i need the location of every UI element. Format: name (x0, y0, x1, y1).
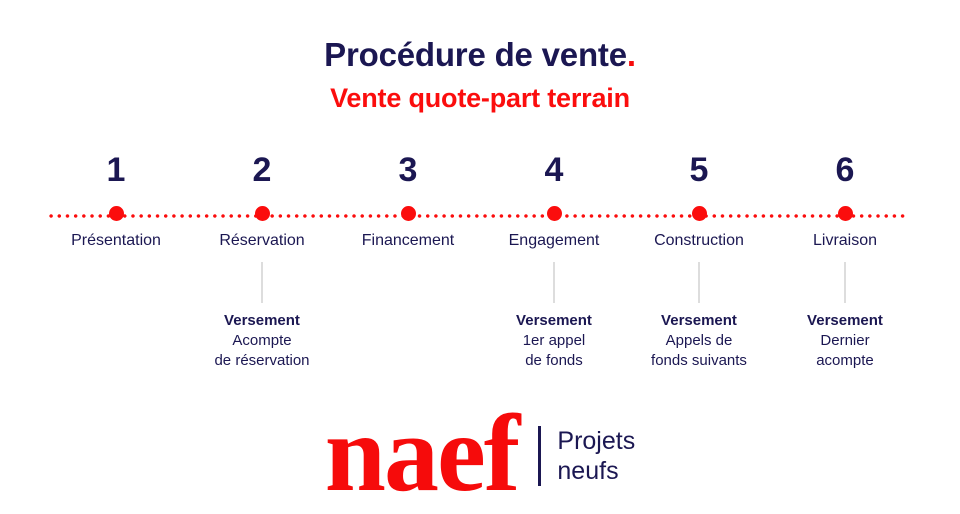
step-label: Financement (333, 231, 483, 251)
note-line: Appels de (619, 331, 779, 351)
naef-wordmark: naef (325, 410, 519, 496)
logo-divider (538, 426, 541, 486)
note-connector-line (844, 262, 846, 303)
page-title: Procédure de vente. (0, 34, 960, 76)
step-number: 5 (624, 150, 774, 196)
step-number: 2 (187, 150, 337, 196)
sales-procedure-infographic: Procédure de vente. Vente quote-part ter… (0, 0, 960, 500)
note-line: fonds suivants (619, 351, 779, 371)
payment-note-step-4: Versement 1er appel de fonds (474, 262, 634, 371)
page-subtitle: Vente quote-part terrain (0, 80, 960, 116)
logo-inner: naef Projets neufs (325, 414, 635, 500)
step-label: Réservation (187, 231, 337, 251)
step-number: 3 (333, 150, 483, 196)
step-number: 4 (479, 150, 629, 196)
logo-tagline-line-1: Projets (557, 426, 635, 456)
note-title: Versement (474, 311, 634, 331)
timeline-step-4[interactable]: 4 Engagement (479, 150, 629, 251)
payment-note-step-6: Versement Dernier acompte (765, 262, 925, 371)
note-connector-line (261, 262, 263, 303)
step-dot-icon (109, 206, 124, 221)
logo-tagline: Projets neufs (557, 426, 635, 486)
payment-notes: Versement Acompte de réservation Verseme… (0, 262, 960, 392)
note-connector-line (553, 262, 555, 303)
note-line: Dernier (765, 331, 925, 351)
step-dot-icon (255, 206, 270, 221)
step-dot-icon (838, 206, 853, 221)
naef-logo: naef Projets neufs (0, 414, 960, 500)
timeline-step-5[interactable]: 5 Construction (624, 150, 774, 251)
timeline-step-2[interactable]: 2 Réservation (187, 150, 337, 251)
timeline-step-6[interactable]: 6 Livraison (770, 150, 920, 251)
note-line: acompte (765, 351, 925, 371)
note-title: Versement (619, 311, 779, 331)
step-dot-icon (547, 206, 562, 221)
step-dot-icon (401, 206, 416, 221)
note-line: Acompte (182, 331, 342, 351)
timeline: 1 Présentation 2 Réservation 3 Financeme… (0, 150, 960, 270)
header: Procédure de vente. Vente quote-part ter… (0, 34, 960, 116)
page-title-period: . (627, 36, 636, 73)
page-title-text: Procédure de vente (324, 36, 627, 73)
step-dot-icon (692, 206, 707, 221)
step-label: Livraison (770, 231, 920, 251)
step-label: Construction (624, 231, 774, 251)
payment-note-step-2: Versement Acompte de réservation (182, 262, 342, 371)
timeline-step-3[interactable]: 3 Financement (333, 150, 483, 251)
payment-note-step-5: Versement Appels de fonds suivants (619, 262, 779, 371)
note-line: de réservation (182, 351, 342, 371)
logo-tagline-line-2: neufs (557, 456, 635, 486)
note-title: Versement (765, 311, 925, 331)
note-line: 1er appel (474, 331, 634, 351)
step-label: Engagement (479, 231, 629, 251)
note-connector-line (698, 262, 700, 303)
note-title: Versement (182, 311, 342, 331)
timeline-step-1[interactable]: 1 Présentation (41, 150, 191, 251)
note-line: de fonds (474, 351, 634, 371)
step-number: 1 (41, 150, 191, 196)
step-label: Présentation (41, 231, 191, 251)
step-number: 6 (770, 150, 920, 196)
